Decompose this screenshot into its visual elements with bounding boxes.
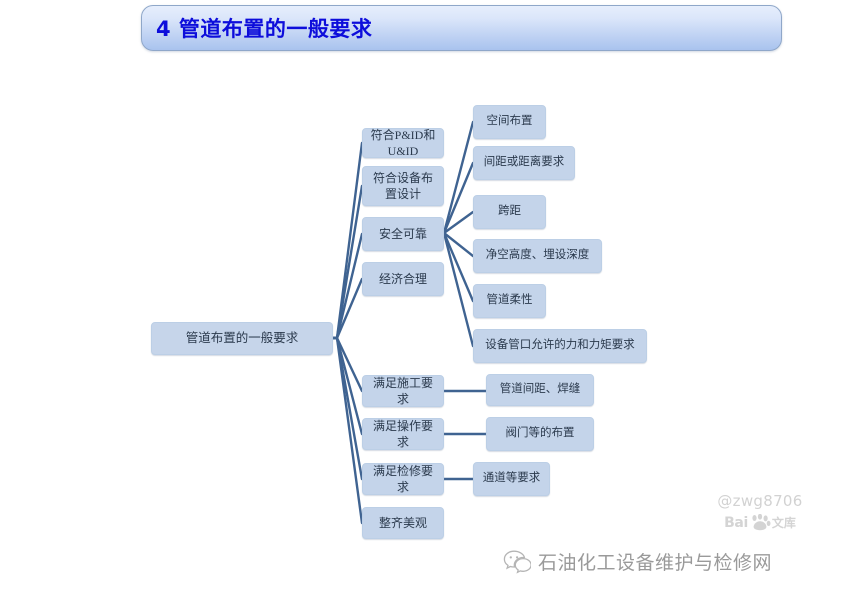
node-label: 经济合理 (379, 271, 427, 287)
mindmap-node-pid-uid[interactable]: 符合P&ID和U&ID (362, 128, 444, 158)
node-label: 满足检修要求 (368, 463, 438, 495)
node-label: 管道间距、焊缝 (500, 382, 581, 398)
mindmap-node-safety-reliability[interactable]: 安全可靠 (362, 217, 444, 251)
node-label: 管道柔性 (487, 293, 533, 309)
mindmap-node-maintenance-requirements[interactable]: 满足检修要求 (362, 463, 444, 495)
mindmap-root-label: 管道布置的一般要求 (186, 330, 299, 347)
node-label: 空间布置 (487, 114, 533, 130)
node-label: 符合P&ID和U&ID (368, 127, 438, 159)
mindmap-node-access-requirements[interactable]: 通道等要求 (473, 462, 550, 496)
mindmap-root-node[interactable]: 管道布置的一般要求 (151, 322, 333, 355)
mindmap-node-operation-requirements[interactable]: 满足操作要求 (362, 418, 444, 450)
node-label: 通道等要求 (483, 471, 541, 487)
mindmap-node-span[interactable]: 跨距 (473, 195, 546, 229)
node-label: 满足操作要求 (368, 418, 438, 450)
node-label: 阀门等的布置 (506, 426, 575, 442)
node-label: 净空高度、埋设深度 (486, 248, 590, 264)
mindmap-node-clearance-burial-depth[interactable]: 净空高度、埋设深度 (473, 239, 602, 273)
mindmap-node-valve-arrangement[interactable]: 阀门等的布置 (486, 417, 594, 451)
node-label: 安全可靠 (379, 226, 427, 242)
node-label: 整齐美观 (379, 515, 427, 531)
node-label: 设备管口允许的力和力矩要求 (485, 338, 635, 354)
node-label: 符合设备布置设计 (368, 170, 438, 202)
mindmap-diagram: 管道布置的一般要求 符合P&ID和U&ID 符合设备布置设计 安全可靠 经济合理… (0, 0, 844, 604)
mindmap-node-spacing-distance[interactable]: 间距或距离要求 (473, 146, 575, 180)
mindmap-node-construction-requirements[interactable]: 满足施工要求 (362, 375, 444, 407)
mindmap-node-equipment-layout[interactable]: 符合设备布置设计 (362, 166, 444, 206)
mindmap-node-economy[interactable]: 经济合理 (362, 262, 444, 296)
mindmap-node-spatial-layout[interactable]: 空间布置 (473, 105, 546, 139)
mindmap-node-pipe-spacing-welds[interactable]: 管道间距、焊缝 (486, 374, 594, 406)
mindmap-node-pipe-flexibility[interactable]: 管道柔性 (473, 284, 546, 318)
node-label: 满足施工要求 (368, 375, 438, 407)
mindmap-node-neatness[interactable]: 整齐美观 (362, 507, 444, 539)
mindmap-node-nozzle-allowable-load[interactable]: 设备管口允许的力和力矩要求 (473, 329, 647, 363)
node-label: 跨距 (498, 204, 521, 220)
node-label: 间距或距离要求 (484, 155, 565, 171)
